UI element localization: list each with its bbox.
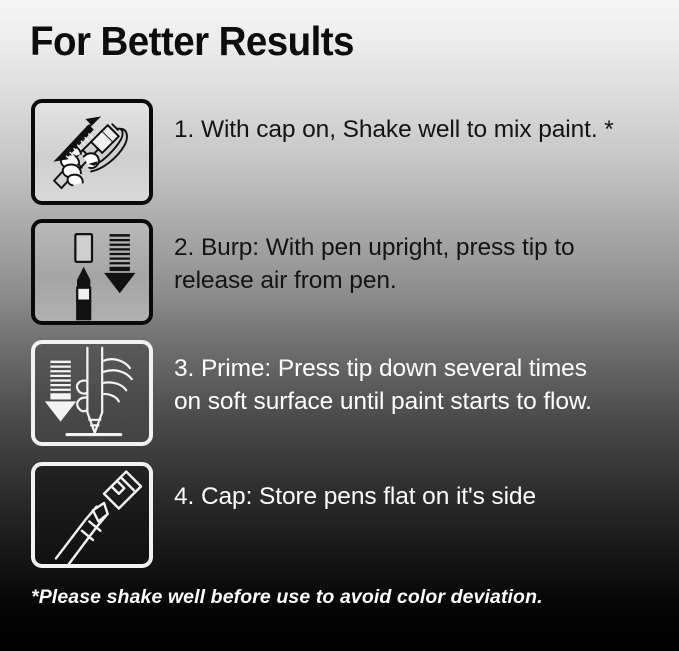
instruction-poster: For Better Results — [0, 0, 679, 651]
step-row-1: 1. With cap on, Shake well to mix paint.… — [0, 99, 679, 205]
step-3-line-1: 3. Prime: Press tip down several times — [174, 352, 592, 385]
hand-shaking-pen-icon — [31, 99, 153, 205]
pen-upright-burp-icon — [31, 219, 153, 325]
step-4-text: 4. Cap: Store pens flat on it's side — [174, 462, 536, 513]
footnote: *Please shake well before use to avoid c… — [31, 586, 543, 609]
step-2-line-1: 2. Burp: With pen upright, press tip to — [174, 231, 575, 264]
pen-with-cap-icon — [31, 462, 153, 568]
page-title: For Better Results — [30, 18, 354, 65]
step-2-text: 2. Burp: With pen upright, press tip to … — [174, 219, 575, 297]
step-row-4: 4. Cap: Store pens flat on it's side — [0, 462, 679, 568]
step-row-3: 3. Prime: Press tip down several times o… — [0, 340, 679, 446]
step-2-line-2: release air from pen. — [174, 264, 575, 297]
step-1-text: 1. With cap on, Shake well to mix paint.… — [174, 99, 614, 146]
step-3-text: 3. Prime: Press tip down several times o… — [174, 340, 592, 418]
step-row-2: 2. Burp: With pen upright, press tip to … — [0, 219, 679, 325]
hand-priming-pen-icon — [31, 340, 153, 446]
step-3-line-2: on soft surface until paint starts to fl… — [174, 385, 592, 418]
